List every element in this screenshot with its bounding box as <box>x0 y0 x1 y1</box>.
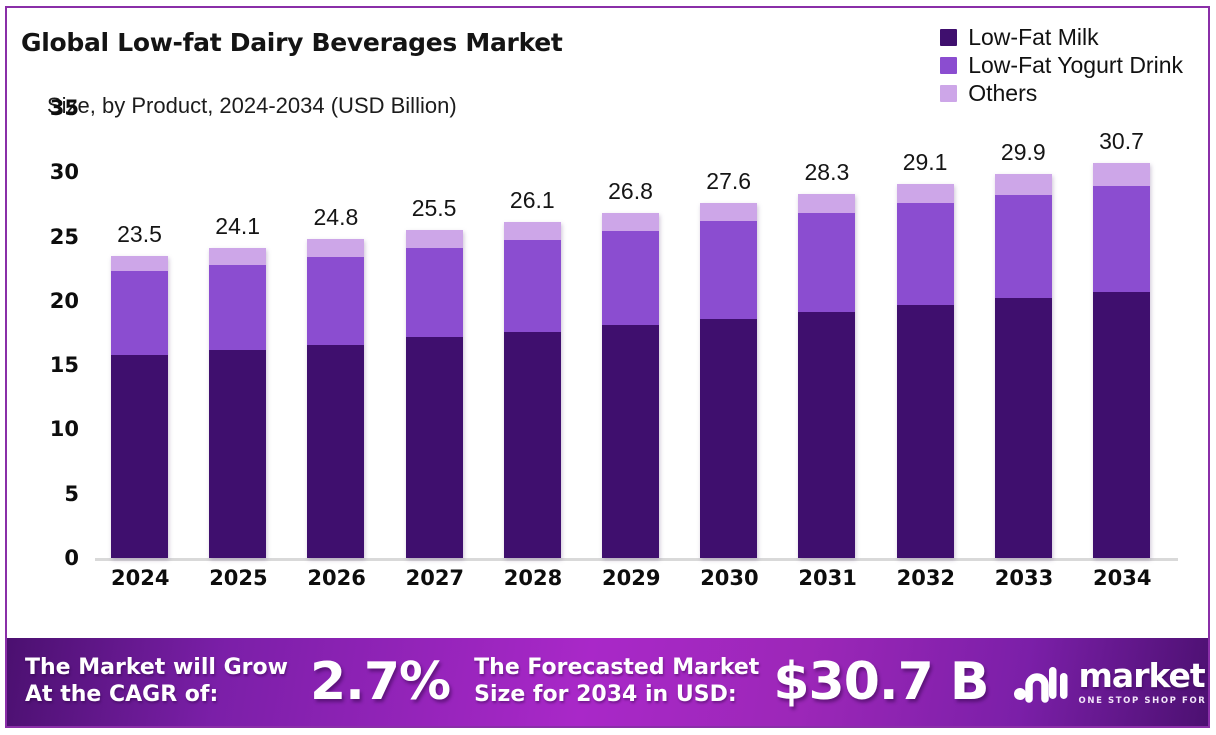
bar-segment <box>798 194 855 213</box>
bar-column[interactable] <box>995 174 1052 558</box>
y-axis-tick-label: 30 <box>29 160 79 184</box>
bar-segment <box>209 350 266 558</box>
bar-segment <box>897 184 954 203</box>
logo-tagline: ONE STOP SHOP FOR THE REPORTS <box>1079 696 1210 706</box>
bar-column[interactable] <box>504 222 561 558</box>
bar-column[interactable] <box>700 203 757 558</box>
forecast-caption-line2: Size for 2034 in USD: <box>474 682 737 707</box>
bar-column[interactable] <box>111 256 168 558</box>
bar-segment <box>406 337 463 558</box>
y-axis-tick-label: 10 <box>29 417 79 441</box>
bar-value-label: 26.1 <box>510 187 555 214</box>
x-axis-tick-label: 2030 <box>700 566 757 590</box>
bar-segment <box>602 213 659 231</box>
forecast-block: The Forecasted Market Size for 2034 in U… <box>474 652 988 712</box>
bar-segment <box>406 230 463 248</box>
bar-column[interactable] <box>209 248 266 558</box>
bar-segment <box>209 248 266 265</box>
bar-value-label: 24.8 <box>314 204 359 231</box>
bar-segment <box>700 319 757 558</box>
y-axis-tick-label: 35 <box>29 96 79 120</box>
bar-segment <box>897 203 954 305</box>
x-axis-tick-label: 2029 <box>602 566 659 590</box>
forecast-caption-line1: The Forecasted Market <box>474 655 759 680</box>
bar-segment <box>798 312 855 558</box>
bar-segment <box>700 203 757 221</box>
bar-value-label: 27.6 <box>706 168 751 195</box>
logo-text: market.us ONE STOP SHOP FOR THE REPORTS <box>1079 659 1210 706</box>
bar-segment <box>111 271 168 355</box>
bar-value-label: 24.1 <box>215 213 260 240</box>
bar-value-label: 30.7 <box>1099 128 1144 155</box>
x-axis-tick-label: 2026 <box>307 566 364 590</box>
y-axis-tick-label: 5 <box>29 482 79 506</box>
cagr-value: 2.7% <box>310 652 450 712</box>
cagr-block: The Market will Grow At the CAGR of: 2.7… <box>25 652 450 712</box>
bar-segment <box>504 332 561 558</box>
summary-banner: The Market will Grow At the CAGR of: 2.7… <box>7 638 1210 726</box>
bar-segment <box>504 222 561 240</box>
bar-segment <box>602 231 659 325</box>
y-axis-tick-label: 20 <box>29 289 79 313</box>
chart-frame: Global Low-fat Dairy Beverages Market Si… <box>5 6 1210 728</box>
bar-value-label: 26.8 <box>608 178 653 205</box>
y-axis-tick-label: 25 <box>29 225 79 249</box>
bar-segment <box>111 355 168 558</box>
bar-column[interactable] <box>602 213 659 558</box>
x-axis-line <box>95 558 1178 561</box>
forecast-value: $30.7 B <box>773 652 988 712</box>
x-axis-tick-label: 2032 <box>897 566 954 590</box>
infographic-root: Global Low-fat Dairy Beverages Market Si… <box>0 0 1216 735</box>
y-axis-tick-label: 0 <box>29 546 79 570</box>
bar-segment <box>700 221 757 319</box>
bar-segment <box>995 195 1052 298</box>
y-axis-tick-label: 15 <box>29 353 79 377</box>
bar-segment <box>1093 163 1150 186</box>
bar-segment <box>798 213 855 312</box>
bar-value-label: 25.5 <box>412 195 457 222</box>
x-axis-tick-label: 2034 <box>1093 566 1150 590</box>
x-axis-tick-label: 2031 <box>798 566 855 590</box>
cagr-caption-line1: The Market will Grow <box>25 655 288 680</box>
forecast-caption: The Forecasted Market Size for 2034 in U… <box>474 655 759 709</box>
x-axis-tick-label: 2024 <box>111 566 168 590</box>
bar-column[interactable] <box>406 230 463 558</box>
bars-container: 23.524.124.825.526.126.827.628.329.129.9… <box>95 108 1178 558</box>
bar-segment <box>209 265 266 350</box>
bar-column[interactable] <box>1093 163 1150 558</box>
cagr-caption-line2: At the CAGR of: <box>25 682 218 707</box>
bar-segment <box>307 257 364 344</box>
market-us-mark-icon <box>1013 661 1069 703</box>
bar-segment <box>995 298 1052 558</box>
market-us-logo[interactable]: market.us ONE STOP SHOP FOR THE REPORTS <box>1013 659 1210 706</box>
bar-segment <box>406 248 463 337</box>
bar-column[interactable] <box>307 239 364 558</box>
bar-value-label: 23.5 <box>117 221 162 248</box>
bar-segment <box>307 239 364 257</box>
bar-segment <box>897 305 954 558</box>
bar-segment <box>602 325 659 558</box>
x-axis-tick-label: 2033 <box>995 566 1052 590</box>
bar-segment <box>1093 292 1150 558</box>
bar-value-label: 28.3 <box>805 159 850 186</box>
bar-value-label: 29.1 <box>903 149 948 176</box>
cagr-caption: The Market will Grow At the CAGR of: <box>25 655 288 709</box>
bar-segment <box>307 345 364 558</box>
bar-segment <box>1093 186 1150 291</box>
logo-wordmark: market.us <box>1079 659 1210 692</box>
bar-column[interactable] <box>798 194 855 558</box>
x-axis-tick-label: 2028 <box>504 566 561 590</box>
plot-area: 05101520253035 23.524.124.825.526.126.82… <box>7 8 1210 618</box>
bar-segment <box>995 174 1052 196</box>
bar-value-label: 29.9 <box>1001 139 1046 166</box>
x-axis-tick-label: 2025 <box>209 566 266 590</box>
bar-segment <box>504 240 561 331</box>
bar-segment <box>111 256 168 271</box>
bar-column[interactable] <box>897 184 954 558</box>
x-axis-tick-label: 2027 <box>406 566 463 590</box>
